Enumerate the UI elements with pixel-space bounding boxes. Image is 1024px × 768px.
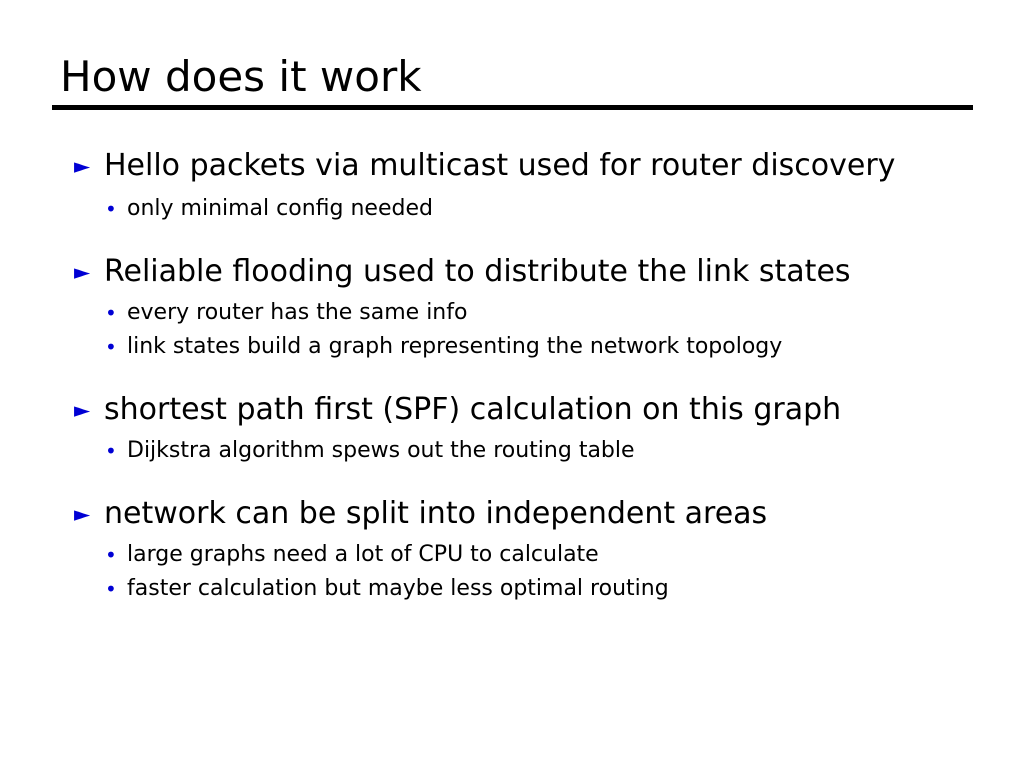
bullet-level1: ► network can be split into independent … bbox=[0, 490, 1024, 538]
bullet-level1-label: Reliable flooding used to distribute the… bbox=[104, 248, 924, 296]
bullet-level2-label: every router has the same info bbox=[127, 296, 1024, 330]
bullet-level2: • large graphs need a lot of CPU to calc… bbox=[0, 538, 1024, 572]
dot-bullet-icon: • bbox=[105, 192, 127, 226]
title-divider bbox=[52, 105, 973, 110]
bullet-level2: • every router has the same info bbox=[0, 296, 1024, 330]
slide: How does it work ► Hello packets via mul… bbox=[0, 0, 1024, 768]
bullet-group: ► network can be split into independent … bbox=[0, 490, 1024, 606]
bullet-level2: • only minimal config needed bbox=[0, 192, 1024, 226]
bullet-level2-label: Dijkstra algorithm spews out the routing… bbox=[127, 434, 1024, 468]
triangle-bullet-icon: ► bbox=[72, 142, 104, 190]
bullet-level2-label: large graphs need a lot of CPU to calcul… bbox=[127, 538, 1024, 572]
bullet-level2: • link states build a graph representing… bbox=[0, 330, 1024, 364]
bullet-level2: • Dijkstra algorithm spews out the routi… bbox=[0, 434, 1024, 468]
bullet-group: ► Hello packets via multicast used for r… bbox=[0, 142, 1024, 226]
triangle-bullet-icon: ► bbox=[72, 386, 104, 434]
bullet-group: ► shortest path first (SPF) calculation … bbox=[0, 386, 1024, 468]
bullet-level1: ► Hello packets via multicast used for r… bbox=[0, 142, 1024, 190]
triangle-bullet-icon: ► bbox=[72, 248, 104, 296]
bullet-level1: ► shortest path first (SPF) calculation … bbox=[0, 386, 1024, 434]
bullet-level1: ► Reliable flooding used to distribute t… bbox=[0, 248, 1024, 296]
dot-bullet-icon: • bbox=[105, 572, 127, 606]
bullet-group: ► Reliable flooding used to distribute t… bbox=[0, 248, 1024, 364]
bullet-level2: • faster calculation but maybe less opti… bbox=[0, 572, 1024, 606]
bullet-level1-label: network can be split into independent ar… bbox=[104, 490, 924, 538]
bullet-level2-label: only minimal config needed bbox=[127, 192, 1024, 226]
bullet-level2-label: link states build a graph representing t… bbox=[127, 330, 1024, 364]
dot-bullet-icon: • bbox=[105, 296, 127, 330]
bullet-list: ► Hello packets via multicast used for r… bbox=[0, 142, 1024, 606]
page-title: How does it work bbox=[52, 52, 973, 102]
dot-bullet-icon: • bbox=[105, 330, 127, 364]
dot-bullet-icon: • bbox=[105, 538, 127, 572]
bullet-level1-label: shortest path first (SPF) calculation on… bbox=[104, 386, 924, 434]
dot-bullet-icon: • bbox=[105, 434, 127, 468]
triangle-bullet-icon: ► bbox=[72, 490, 104, 538]
bullet-level2-label: faster calculation but maybe less optima… bbox=[127, 572, 1024, 606]
bullet-level1-label: Hello packets via multicast used for rou… bbox=[104, 142, 924, 190]
title-block: How does it work bbox=[52, 52, 973, 110]
